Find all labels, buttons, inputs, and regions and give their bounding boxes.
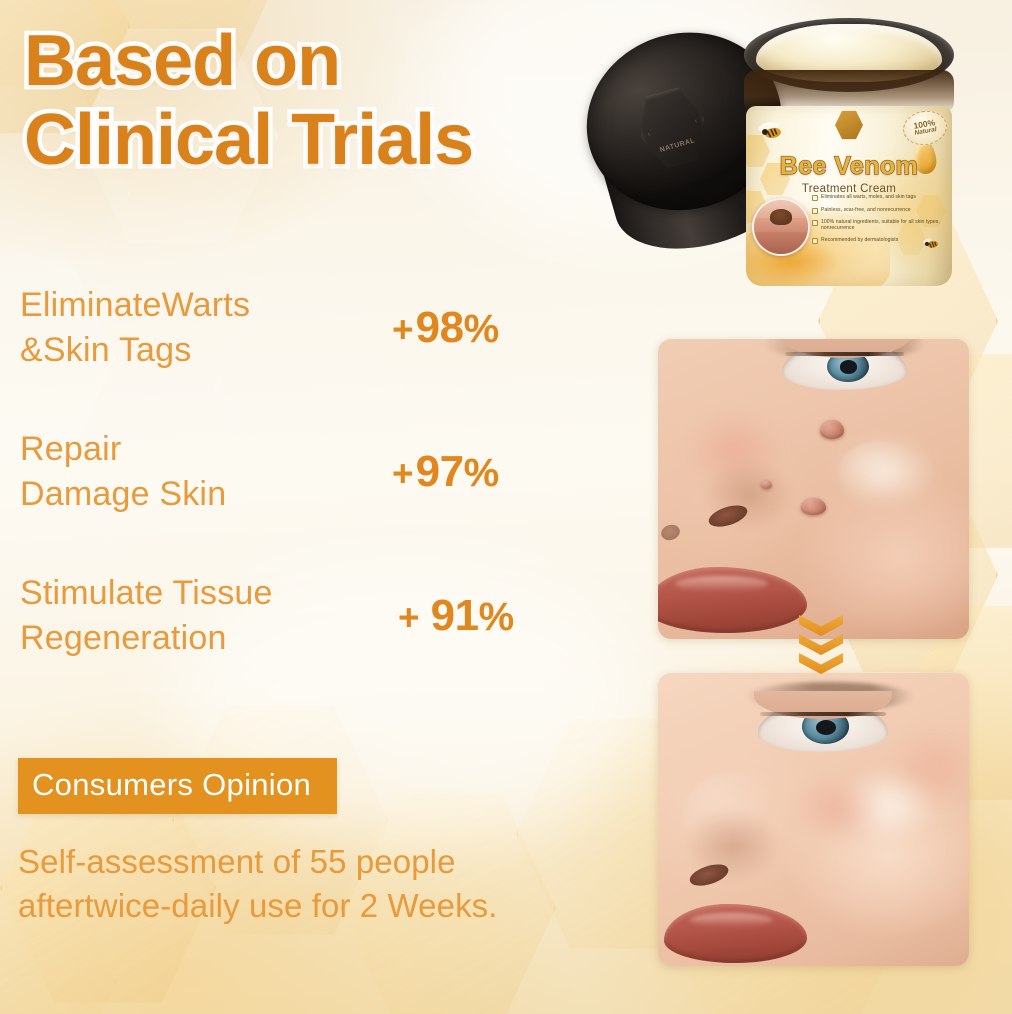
consumers-opinion-banner-label: Consumers Opinion: [32, 767, 311, 802]
wart-lesion: [801, 498, 826, 515]
label-bullet-item: 100% natural ingredients, suitable for a…: [812, 219, 944, 232]
lip-highlight: [690, 913, 773, 927]
wart-lesion-small: [761, 480, 772, 489]
consumers-opinion-body: Self-assessment of 55 people aftertwice-…: [18, 840, 578, 928]
benefit-label: Stimulate TissueRegeneration: [20, 571, 392, 661]
chevron-down-icon: [799, 615, 843, 637]
benefit-row: EliminateWarts&Skin Tags + 98 %: [20, 282, 620, 374]
cheek-blush: [888, 726, 969, 808]
checkbox-icon: [812, 208, 818, 214]
percent-value: 97: [416, 447, 464, 497]
benefits-list: EliminateWarts&Skin Tags + 98 % RepairDa…: [20, 282, 620, 714]
percent-sign: %: [479, 595, 515, 640]
benefit-percentage: + 97 %: [392, 447, 499, 497]
pupil: [816, 720, 836, 735]
plus-sign: +: [392, 453, 413, 495]
eye: [782, 342, 906, 390]
chevron-down-icon: [799, 653, 843, 675]
label-bullet-text: Painless, scar-free, and nonrecurrence: [821, 207, 911, 213]
percent-value: 91: [431, 591, 479, 641]
benefit-percentage: + 98 %: [392, 303, 499, 353]
chevron-down-icon: [799, 634, 843, 656]
label-bullet-text: Eliminates all warts, moles, and skin ta…: [821, 194, 916, 200]
checkbox-icon: [812, 195, 818, 201]
benefit-row: RepairDamage Skin + 97 %: [20, 426, 620, 518]
percent-value: 98: [416, 303, 464, 353]
percent-sign: %: [464, 307, 500, 352]
lid-hex-emblem-icon: NATURAL: [630, 81, 715, 174]
eyelashes: [785, 352, 904, 356]
benefit-label: RepairDamage Skin: [20, 427, 392, 517]
benefit-percentage: + 91 %: [398, 591, 514, 641]
checkbox-icon: [812, 238, 818, 244]
product-jar-image: 100% Natural Bee Venom Treatment Cream E…: [588, 10, 998, 320]
percent-sign: %: [464, 451, 500, 496]
checkbox-icon: [812, 220, 818, 226]
consumers-opinion-section: Consumers Opinion Self-assessment of 55 …: [18, 758, 618, 928]
before-photo: [658, 339, 969, 639]
pupil: [840, 360, 857, 373]
jar-label: 100% Natural Bee Venom Treatment Cream E…: [746, 106, 952, 286]
headline: Based on Clinical Trials: [24, 26, 624, 175]
label-bullet-item: Recommended by dermatologists: [812, 237, 944, 244]
jar-body: 100% Natural Bee Venom Treatment Cream E…: [740, 18, 958, 306]
pore-texture: [838, 441, 925, 501]
plus-sign: +: [392, 309, 413, 351]
headline-line-2: Clinical Trials: [24, 105, 624, 176]
label-hex-emblem-icon: [835, 110, 863, 140]
consumers-opinion-banner: Consumers Opinion: [18, 758, 337, 814]
label-bullet-text: 100% natural ingredients, suitable for a…: [821, 219, 944, 232]
label-bullet-item: Painless, scar-free, and nonrecurrence: [812, 207, 944, 214]
benefit-row: Stimulate TissueRegeneration + 91 %: [20, 570, 620, 662]
lid-emblem-inner-border: [640, 92, 705, 163]
lip-highlight: [675, 576, 769, 592]
bee-icon: [758, 122, 784, 140]
eye: [758, 702, 889, 752]
headline-line-1: Based on: [24, 26, 624, 97]
label-bullet-list: Eliminates all warts, moles, and skin ta…: [812, 194, 944, 250]
product-name: Bee Venom: [746, 152, 952, 181]
eyelashes: [760, 712, 885, 716]
label-bullet-text: Recommended by dermatologists: [821, 237, 898, 243]
plus-sign: +: [398, 597, 419, 639]
down-arrow-icon: [793, 618, 849, 690]
natural-badge: 100% Natural: [900, 107, 949, 148]
skin-cross-section-illustration: [752, 198, 810, 256]
cheek-blush: [795, 778, 882, 842]
benefit-label: EliminateWarts&Skin Tags: [20, 283, 392, 373]
advertisement-canvas: Based on Clinical Trials EliminateWarts&…: [0, 0, 1012, 1014]
wart-lesion: [820, 420, 844, 439]
badge-natural-label: Natural: [914, 127, 937, 138]
after-photo: [658, 673, 969, 966]
wart-illustration: [770, 209, 792, 225]
label-bullet-item: Eliminates all warts, moles, and skin ta…: [812, 194, 944, 201]
